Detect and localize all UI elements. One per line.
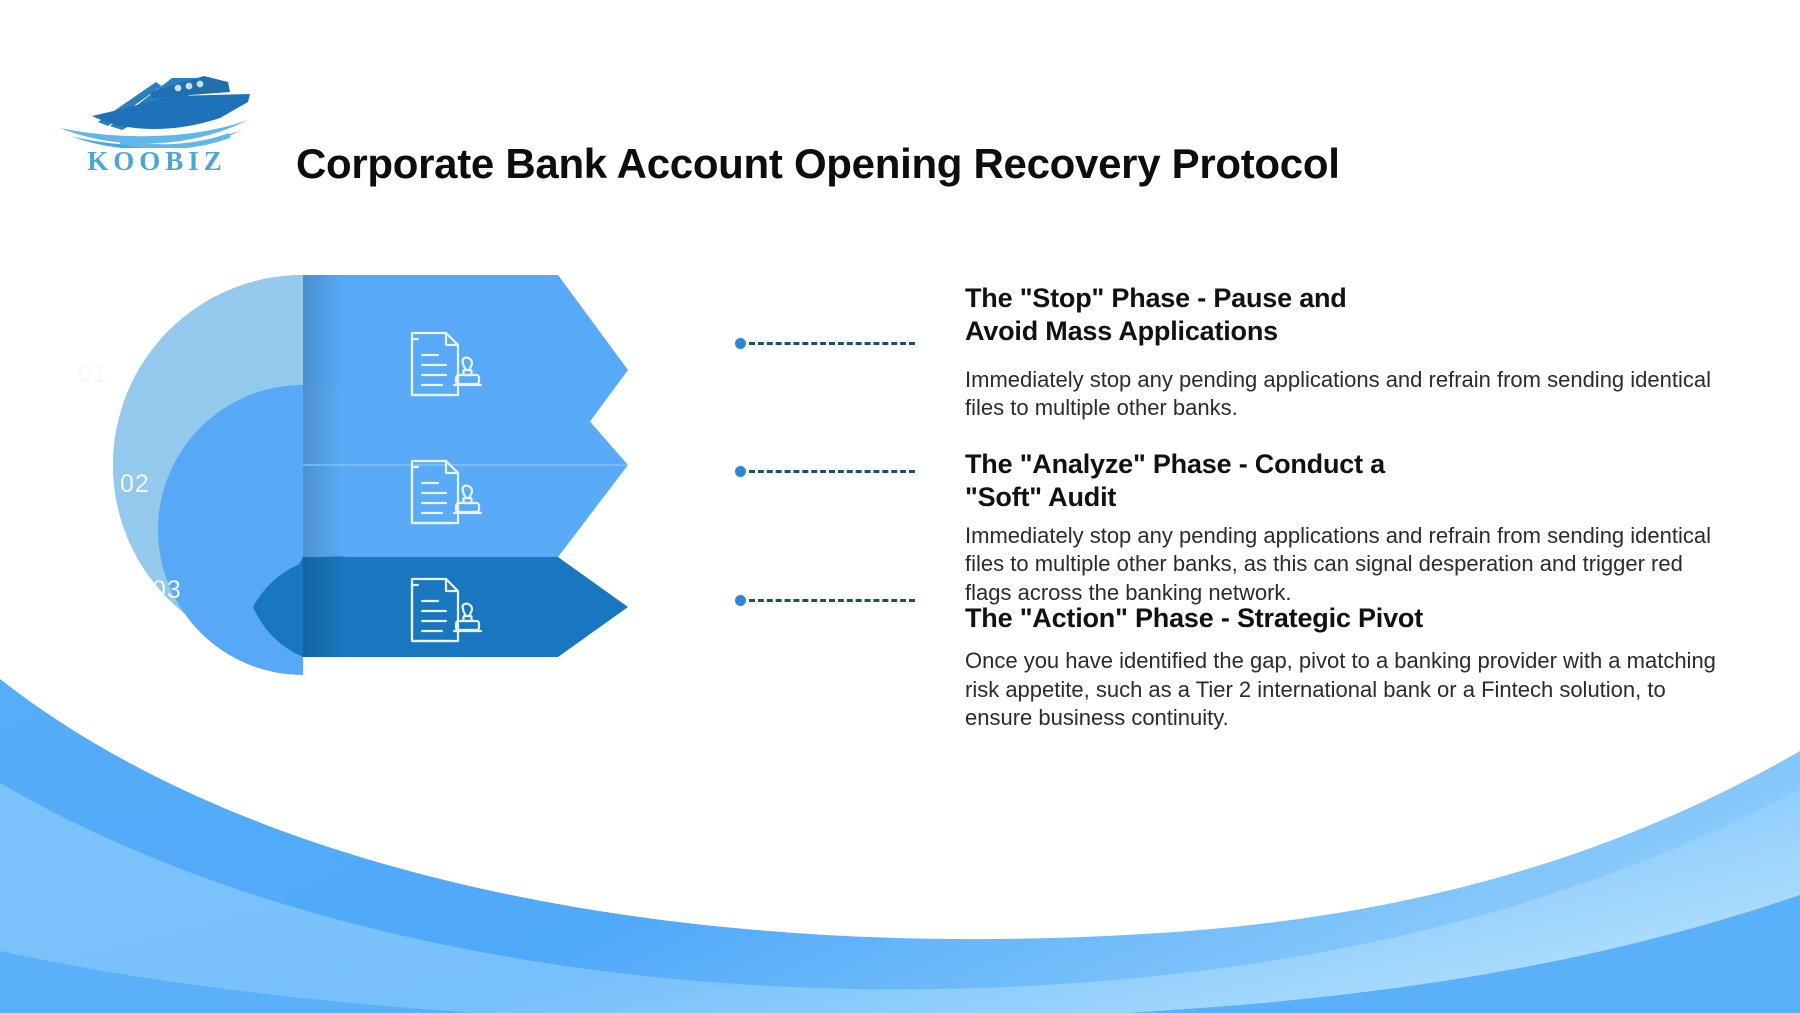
wave-front	[0, 783, 1800, 1013]
phase-body-3: Once you have identified the gap, pivot …	[965, 647, 1725, 733]
connector-dash-1	[749, 342, 915, 345]
connector-dash-3	[749, 599, 915, 602]
phase-item-3: The "Action" Phase - Strategic Pivot Onc…	[965, 602, 1725, 733]
step-number-01: 01	[78, 360, 108, 389]
phase-title-2: The "Analyze" Phase - Conduct a "Soft" A…	[965, 448, 1725, 514]
connector-dot-1	[735, 338, 746, 349]
connector-line-3	[735, 593, 915, 607]
phase-item-1: The "Stop" Phase - Pause and Avoid Mass …	[965, 282, 1725, 423]
connector-dot-3	[735, 595, 746, 606]
phase-title-1: The "Stop" Phase - Pause and Avoid Mass …	[965, 282, 1725, 348]
ship-logo-icon	[52, 58, 262, 148]
phase-body-2: Immediately stop any pending application…	[965, 522, 1725, 608]
phase-title-3: The "Action" Phase - Strategic Pivot	[965, 602, 1725, 635]
phase-body-1: Immediately stop any pending application…	[965, 366, 1725, 423]
connector-line-2	[735, 464, 915, 478]
brand-logo: KOOBIZ	[52, 58, 262, 188]
wave-accent	[0, 895, 1800, 1013]
brand-wordmark: KOOBIZ	[52, 146, 262, 177]
page-title: Corporate Bank Account Opening Recovery …	[296, 140, 1476, 188]
phase-item-2: The "Analyze" Phase - Conduct a "Soft" A…	[965, 448, 1725, 608]
connector-dash-2	[749, 470, 915, 473]
connector-dot-2	[735, 466, 746, 477]
connector-line-1	[735, 336, 915, 350]
